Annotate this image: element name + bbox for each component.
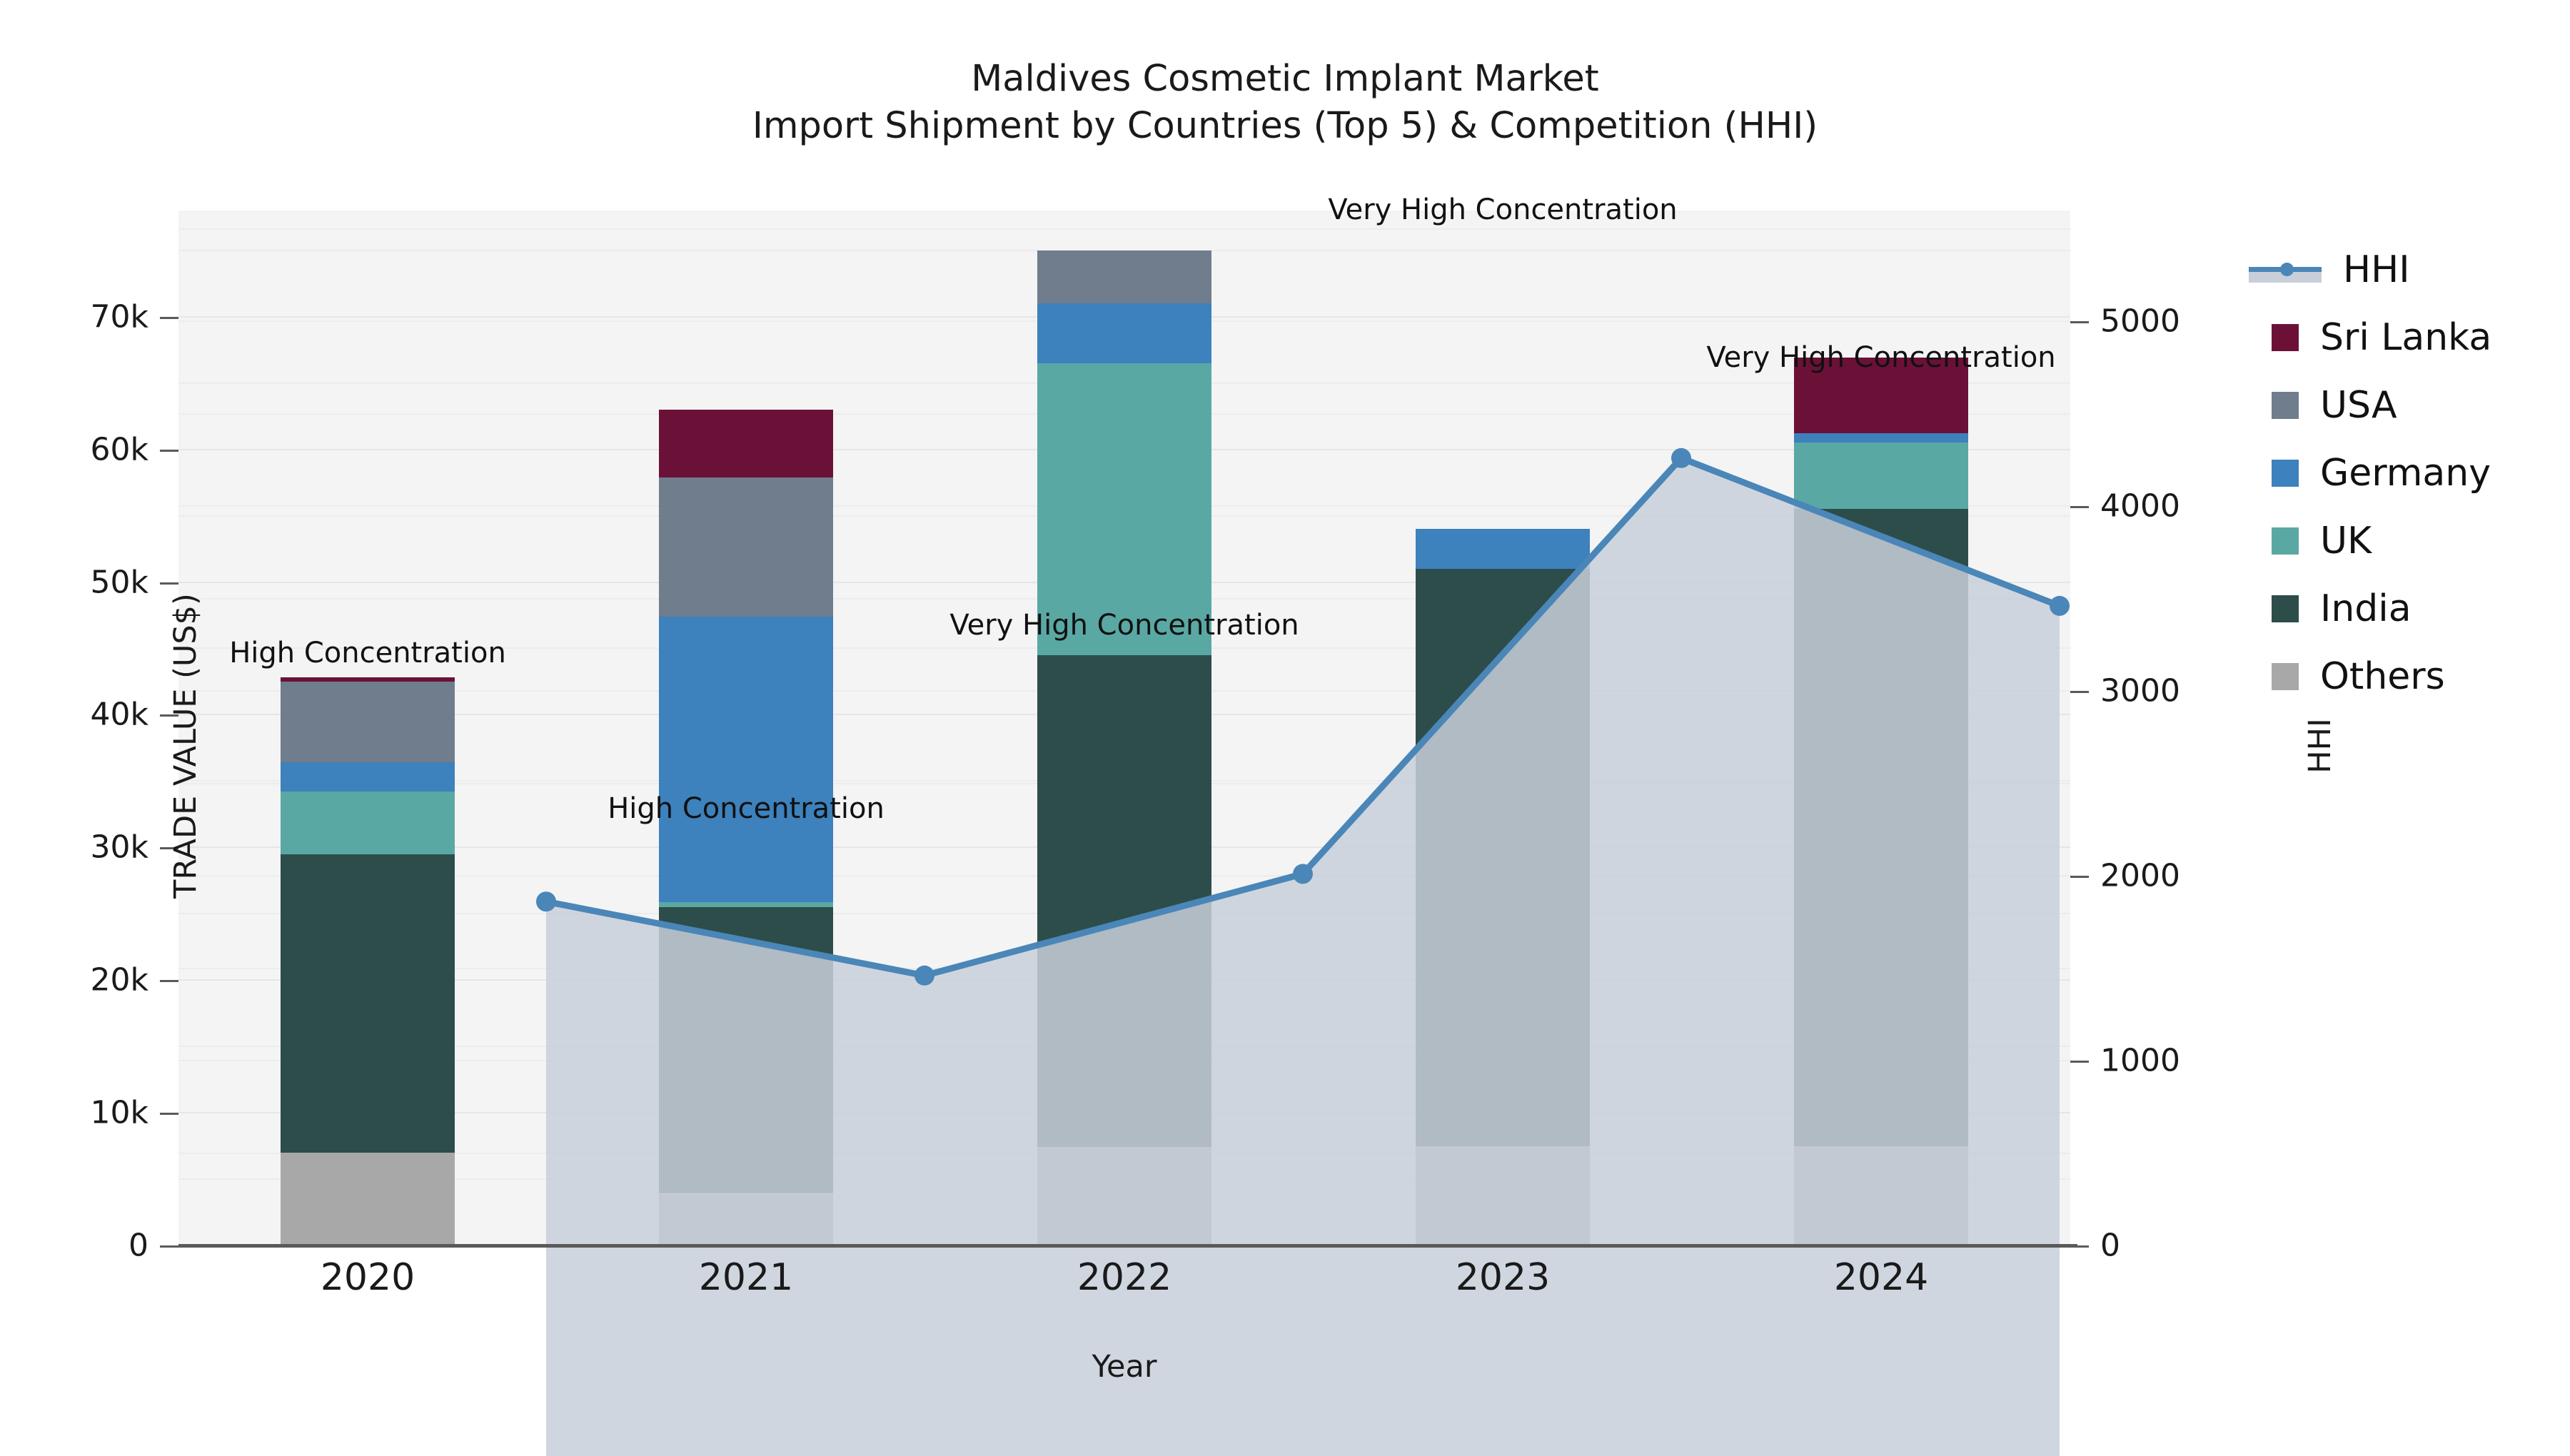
- x-tick-label-2021: 2021: [699, 1256, 793, 1299]
- legend-label: Others: [2320, 655, 2445, 698]
- y-left-tick-mark: [160, 980, 178, 982]
- bar-segment-germany-2022[interactable]: [1037, 303, 1211, 363]
- legend-label: India: [2320, 587, 2412, 630]
- annotation-2023: Very High Concentration: [1328, 193, 1677, 226]
- x-axis-title: Year: [178, 1349, 2070, 1385]
- y-left-tick-label: 50k: [0, 564, 148, 600]
- hhi-marker-2023[interactable]: [1671, 448, 1691, 468]
- title-line-1: Maldives Cosmetic Implant Market: [0, 56, 2570, 103]
- y-left-tick-label: 60k: [0, 431, 148, 467]
- y-left-tick-label: 70k: [0, 298, 148, 335]
- x-tick-label-2024: 2024: [1834, 1256, 1928, 1299]
- legend-line-key-icon: [2249, 256, 2322, 283]
- y-right-tick-label: 3000: [2100, 673, 2180, 709]
- y-left-tick-label: 30k: [0, 829, 148, 866]
- y-right-tick-label: 4000: [2100, 488, 2180, 525]
- x-tick-label-2022: 2022: [1077, 1256, 1171, 1299]
- legend-swatch-icon: [2272, 460, 2299, 487]
- legend-swatch-icon: [2272, 527, 2299, 555]
- y-axis-left-title: TRADE VALUE (US$): [168, 532, 203, 960]
- legend-swatch-icon: [2272, 392, 2299, 419]
- legend-item-others[interactable]: Others: [2249, 642, 2491, 710]
- annotation-2022: Very High Concentration: [949, 609, 1299, 642]
- y-right-tick-label: 5000: [2100, 303, 2180, 340]
- hhi-marker-2020[interactable]: [536, 891, 556, 911]
- legend-item-uk[interactable]: UK: [2249, 507, 2491, 575]
- hhi-area-fill: [546, 458, 2060, 1456]
- y-left-tick-mark: [160, 1245, 178, 1248]
- x-axis-line: [178, 1244, 2077, 1248]
- hhi-marker-2021[interactable]: [914, 966, 934, 986]
- y-left-tick-mark: [160, 1113, 178, 1115]
- legend-swatch-icon: [2272, 663, 2299, 690]
- title-line-2: Import Shipment by Countries (Top 5) & C…: [0, 103, 2570, 150]
- annotation-2024: Very High Concentration: [1706, 341, 2055, 374]
- y-right-tick-mark: [2070, 506, 2089, 508]
- y-right-tick-mark: [2070, 321, 2089, 323]
- hhi-marker-2022[interactable]: [1293, 864, 1313, 884]
- hhi-marker-2024[interactable]: [2050, 596, 2070, 616]
- y-left-tick-label: 0: [0, 1228, 148, 1264]
- legend-item-germany[interactable]: Germany: [2249, 439, 2491, 507]
- legend-label: USA: [2320, 384, 2397, 427]
- y-right-tick-mark: [2070, 1061, 2089, 1063]
- y-left-tick-mark: [160, 450, 178, 452]
- chart-canvas: Maldives Cosmetic Implant Market Import …: [0, 0, 2570, 1445]
- annotation-2020: High Concentration: [229, 637, 506, 669]
- y-left-tick-mark: [160, 317, 178, 319]
- y-right-tick-mark: [2070, 1245, 2089, 1248]
- legend-swatch-icon: [2272, 595, 2299, 622]
- legend-marker-dot-icon: [2280, 263, 2294, 276]
- y-right-tick-mark: [2070, 876, 2089, 878]
- y-right-tick-label: 1000: [2100, 1043, 2180, 1079]
- x-tick-label-2020: 2020: [321, 1256, 415, 1299]
- legend-swatch-icon: [2272, 324, 2299, 351]
- legend-item-usa[interactable]: USA: [2249, 371, 2491, 439]
- legend: HHISri LankaUSAGermanyUKIndiaOthers: [2249, 236, 2491, 710]
- legend-label: UK: [2320, 520, 2372, 562]
- legend-label: Sri Lanka: [2320, 316, 2491, 359]
- legend-item-hhi[interactable]: HHI: [2249, 236, 2491, 303]
- y-right-tick-mark: [2070, 691, 2089, 693]
- gridline-secondary: [178, 228, 2070, 230]
- y-right-tick-label: 2000: [2100, 858, 2180, 894]
- x-tick-label-2023: 2023: [1456, 1256, 1550, 1299]
- legend-item-sri-lanka[interactable]: Sri Lanka: [2249, 303, 2491, 371]
- bar-segment-usa-2022[interactable]: [1037, 251, 1211, 303]
- legend-label: Germany: [2320, 452, 2491, 495]
- y-right-tick-label: 0: [2100, 1228, 2120, 1264]
- annotation-2021: High Concentration: [608, 792, 885, 825]
- legend-item-india[interactable]: India: [2249, 575, 2491, 642]
- hhi-series-overlay: [357, 421, 2249, 1456]
- y-left-tick-label: 40k: [0, 697, 148, 733]
- y-left-tick-label: 10k: [0, 1095, 148, 1131]
- legend-label: HHI: [2343, 248, 2410, 291]
- chart-title: Maldives Cosmetic Implant Market Import …: [0, 56, 2570, 151]
- y-left-tick-label: 20k: [0, 962, 148, 999]
